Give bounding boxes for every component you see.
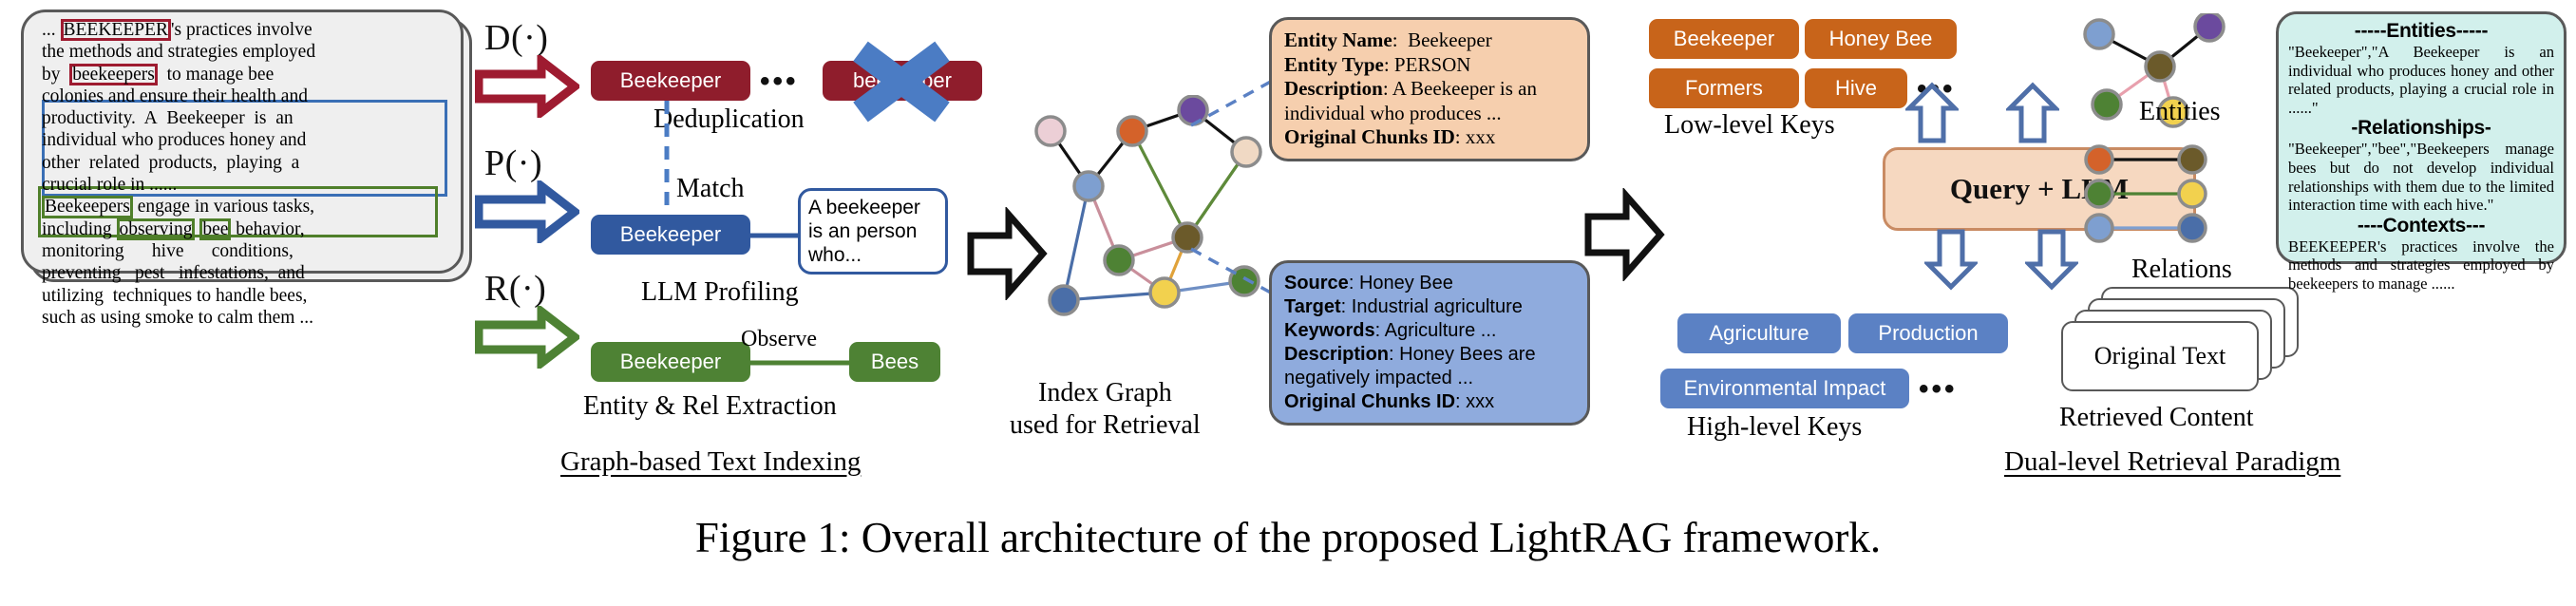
entity-card-value: PERSON: [1394, 53, 1471, 76]
relation-card-key: Target: [1284, 296, 1341, 317]
low-level-key-1[interactable]: Honey Bee: [1805, 19, 1957, 59]
doc-line: such as using smoke to calm them ...: [42, 307, 441, 329]
relation-highlight-observing: observing: [117, 218, 196, 240]
relations-mini-graph: [2074, 144, 2264, 249]
match-label: Match: [676, 174, 745, 204]
doc-line: preventing pest infestations, and: [42, 262, 441, 284]
entities-label: Entities: [2139, 97, 2221, 127]
results-body-relationships: "Beekeeper","bee","Beekeepers manage bee…: [2288, 140, 2554, 214]
entity-card-row: Original Chunks ID: xxx: [1284, 125, 1575, 150]
dedup-cross-icon: [840, 36, 963, 127]
entity-card-key: Original Chunks ID: [1284, 125, 1455, 148]
profile-description-text: A beekeeper is an person who...: [808, 197, 920, 266]
profile-description-bubble: A beekeeper is an person who...: [798, 188, 948, 275]
profiling-stage-label: LLM Profiling: [641, 277, 799, 308]
doc-line: individual who produces honey and: [42, 129, 441, 151]
relation-card-value: Agriculture ...: [1385, 320, 1497, 341]
original-text-card-label: Original Text: [2094, 342, 2226, 370]
entity-card-row: Entity Type: PERSON: [1284, 53, 1575, 78]
relation-card-value: xxx: [1466, 391, 1494, 412]
low-level-key-2[interactable]: Formers: [1649, 68, 1799, 108]
results-body-contexts: BEEKEEPER's practices involve the method…: [2288, 237, 2554, 294]
entity-highlight-beekeepers: beekeepers: [69, 64, 158, 85]
lightrag-architecture-figure: ... BEEKEEPER's practices involve the me…: [0, 0, 2576, 606]
relations-label: Relations: [2131, 255, 2232, 285]
arrow-to-retrieval: [1582, 188, 1666, 281]
relation-card-row: Keywords: Agriculture ...: [1284, 319, 1575, 343]
entity-detail-card: Entity Name: Beekeeper Entity Type: PERS…: [1269, 17, 1590, 161]
entity-card-row: Entity Name: Beekeeper: [1284, 28, 1575, 53]
high-level-keys-label: High-level Keys: [1687, 412, 1862, 443]
doc-line: crucial role in ......: [42, 174, 441, 196]
doc-line: monitoring hive conditions,: [42, 240, 441, 262]
index-graph-label-line1: Index Graph: [1038, 378, 1172, 408]
entity-card-key: Description: [1284, 77, 1383, 100]
source-document-text: ... BEEKEEPER's practices involve the me…: [42, 19, 441, 329]
arrow-up-low-level-1: [1905, 82, 1959, 144]
profile-connector: [748, 228, 805, 243]
low-level-key-0[interactable]: Beekeeper: [1649, 19, 1799, 59]
operator-label-profile: P(·): [484, 142, 542, 184]
extraction-relation-label: Observe: [741, 327, 817, 352]
relation-card-key: Description: [1284, 344, 1389, 365]
entity-highlight-beekeeper-upper: BEEKEEPER: [61, 19, 172, 41]
high-level-key-2[interactable]: Environmental Impact: [1660, 369, 1909, 408]
doc-line: including observing bee behavior,: [42, 218, 441, 240]
entity-card-key: Entity Type: [1284, 53, 1384, 76]
entity-card-value: Beekeeper: [1408, 28, 1492, 51]
index-graph-label-line2: used for Retrieval: [1010, 410, 1201, 441]
doc-line: productivity. A Beekeeper is an: [42, 107, 441, 129]
arrow-dedup: [475, 55, 579, 118]
dedup-node-keep[interactable]: Beekeeper: [591, 61, 750, 101]
section-title-retrieval: Dual-level Retrieval Paradigm: [2004, 446, 2340, 478]
index-graph: [1007, 95, 1311, 380]
arrow-down-high-level-1: [1924, 228, 1978, 291]
relation-card-key: Original Chunks ID: [1284, 391, 1455, 412]
doc-line: by beekeepers to manage bee: [42, 64, 441, 85]
doc-line: utilizing techniques to handle bees,: [42, 285, 441, 307]
entity-card-row: Description: A Beekeeper is an individua…: [1284, 77, 1575, 125]
entity-highlight-beekeepers-green: Beekeepers: [42, 196, 133, 218]
relation-card-value: Honey Bee: [1359, 273, 1453, 294]
relation-card-value: Industrial agriculture: [1352, 296, 1523, 317]
results-panel: -----Entities----- "Beekeeper","A Beekee…: [2276, 11, 2567, 264]
entity-card-value: xxx: [1466, 125, 1496, 148]
section-title-indexing: Graph-based Text Indexing: [560, 446, 861, 478]
results-header-entities: -----Entities-----: [2288, 20, 2554, 43]
doc-line: ... BEEKEEPER's practices involve: [42, 19, 441, 41]
arrow-extract: [475, 306, 579, 369]
results-header-contexts: ----Contexts---: [2288, 215, 2554, 237]
doc-line: colonies and ensure their health and: [42, 85, 441, 107]
relation-card-row: Target: Industrial agriculture: [1284, 295, 1575, 319]
dedup-ellipsis: •••: [760, 66, 799, 98]
high-level-keys-ellipsis: •••: [1919, 373, 1958, 406]
doc-line: the methods and strategies employed: [42, 41, 441, 63]
arrow-up-low-level-2: [2006, 82, 2059, 144]
extraction-source-node[interactable]: Beekeeper: [591, 342, 750, 382]
arrow-down-high-level-2: [2025, 228, 2078, 291]
extraction-stage-label: Entity & Rel Extraction: [583, 391, 837, 422]
figure-caption: Figure 1: Overall architecture of the pr…: [0, 513, 2576, 562]
profile-node-beekeeper[interactable]: Beekeeper: [591, 215, 750, 255]
operator-label-dedup: D(·): [484, 17, 548, 59]
high-level-key-1[interactable]: Production: [1848, 313, 2008, 353]
operator-label-extract: R(·): [484, 268, 546, 310]
relation-card-key: Keywords: [1284, 320, 1375, 341]
doc-line: Beekeepers engage in various tasks,: [42, 196, 441, 218]
relation-detail-card: Source: Honey Bee Target: Industrial agr…: [1269, 260, 1590, 426]
retrieved-content-label: Retrieved Content: [2059, 403, 2254, 433]
entity-card-key: Entity Name: [1284, 28, 1392, 51]
entity-highlight-bee: bee: [199, 218, 231, 240]
retrieved-card-front[interactable]: Original Text: [2061, 321, 2259, 391]
relation-card-key: Source: [1284, 273, 1349, 294]
low-level-keys-label: Low-level Keys: [1664, 110, 1835, 141]
extraction-target-node[interactable]: Bees: [849, 342, 940, 382]
results-header-relationships: -Relationships-: [2288, 117, 2554, 140]
doc-line: other related products, playing a: [42, 152, 441, 174]
arrow-profile: [475, 180, 579, 243]
extraction-relation-edge: [747, 355, 853, 370]
relation-card-row: Description: Honey Bees are negatively i…: [1284, 343, 1575, 390]
high-level-key-0[interactable]: Agriculture: [1677, 313, 1841, 353]
relation-card-row: Original Chunks ID: xxx: [1284, 390, 1575, 414]
results-body-entities: "Beekeeper","A Beekeeper is an individua…: [2288, 43, 2554, 117]
low-level-key-3[interactable]: Hive: [1805, 68, 1907, 108]
relation-card-row: Source: Honey Bee: [1284, 272, 1575, 295]
